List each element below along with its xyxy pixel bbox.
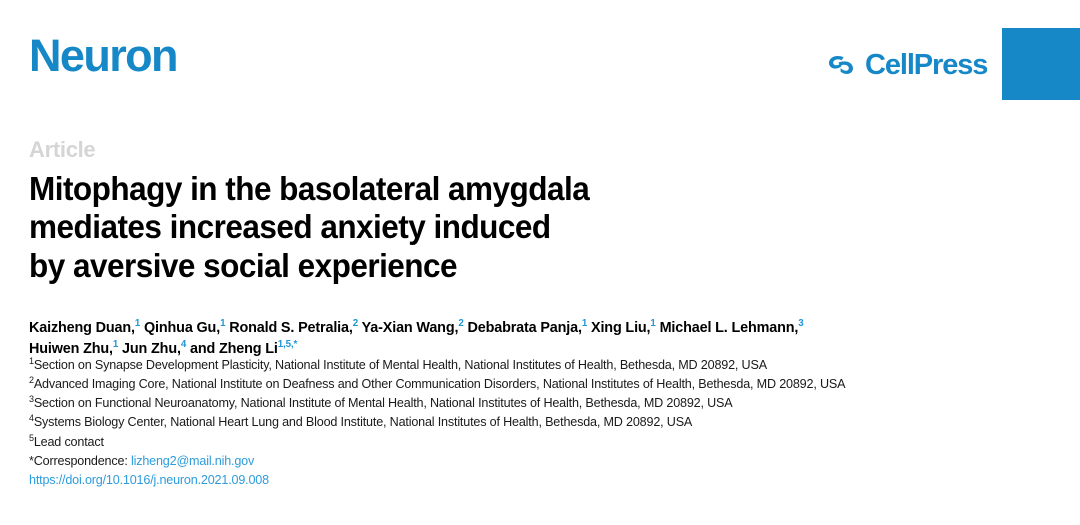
article-header: Article Mitophagy in the basolateral amy…	[29, 138, 1029, 285]
author-name: Huiwen Zhu,	[29, 341, 113, 357]
correspondence-line: *Correspondence: lizheng2@mail.nih.gov	[29, 452, 987, 471]
affiliation-item: 2Advanced Imaging Core, National Institu…	[29, 375, 987, 394]
affiliation-text: Section on Functional Neuroanatomy, Nati…	[34, 396, 733, 410]
affiliation-text: Lead contact	[34, 435, 104, 449]
author-list: Kaizheng Duan,1 Qinhua Gu,1 Ronald S. Pe…	[29, 318, 989, 360]
author-name: Ronald S. Petralia,	[225, 320, 352, 336]
article-type-label: Article	[29, 138, 1029, 161]
affiliation-item: 4Systems Biology Center, National Heart …	[29, 413, 987, 432]
journal-logo[interactable]: Neuron	[29, 33, 177, 78]
doi-link[interactable]: https://doi.org/10.1016/j.neuron.2021.09…	[29, 471, 987, 490]
affiliation-text: Section on Synapse Development Plasticit…	[34, 358, 767, 372]
affiliation-text: Systems Biology Center, National Heart L…	[34, 415, 692, 429]
author-line: Kaizheng Duan,1 Qinhua Gu,1 Ronald S. Pe…	[29, 318, 989, 339]
blue-corner-block	[1002, 28, 1080, 100]
author-name: and Zheng Li	[186, 341, 278, 357]
author-name: Qinhua Gu,	[140, 320, 220, 336]
author-name: Debabrata Panja,	[464, 320, 582, 336]
correspondence-email-link[interactable]: lizheng2@mail.nih.gov	[131, 454, 254, 468]
affiliation-text: Advanced Imaging Core, National Institut…	[34, 377, 846, 391]
author-name: Xing Liu,	[587, 320, 650, 336]
cellpress-link-icon	[826, 52, 856, 78]
affiliation-item: 3Section on Functional Neuroanatomy, Nat…	[29, 394, 987, 413]
author-name: Michael L. Lehmann,	[656, 320, 799, 336]
affiliation-item: 1Section on Synapse Development Plastici…	[29, 356, 987, 375]
affiliation-item: 5Lead contact	[29, 433, 987, 452]
author-affiliation-marker: 1,5,*	[278, 339, 297, 350]
page-title: Mitophagy in the basolateral amygdala me…	[29, 170, 984, 285]
author-name: Kaizheng Duan,	[29, 320, 135, 336]
publisher-name: CellPress	[865, 51, 987, 80]
author-name: Jun Zhu,	[118, 341, 181, 357]
affiliation-list: 1Section on Synapse Development Plastici…	[29, 356, 987, 490]
publisher-logo[interactable]: CellPress	[826, 48, 987, 82]
author-affiliation-marker: 3	[798, 318, 803, 329]
masthead: Neuron CellPress	[0, 0, 1080, 118]
author-name: Ya-Xian Wang,	[358, 320, 458, 336]
correspondence-label: Correspondence:	[34, 454, 128, 468]
